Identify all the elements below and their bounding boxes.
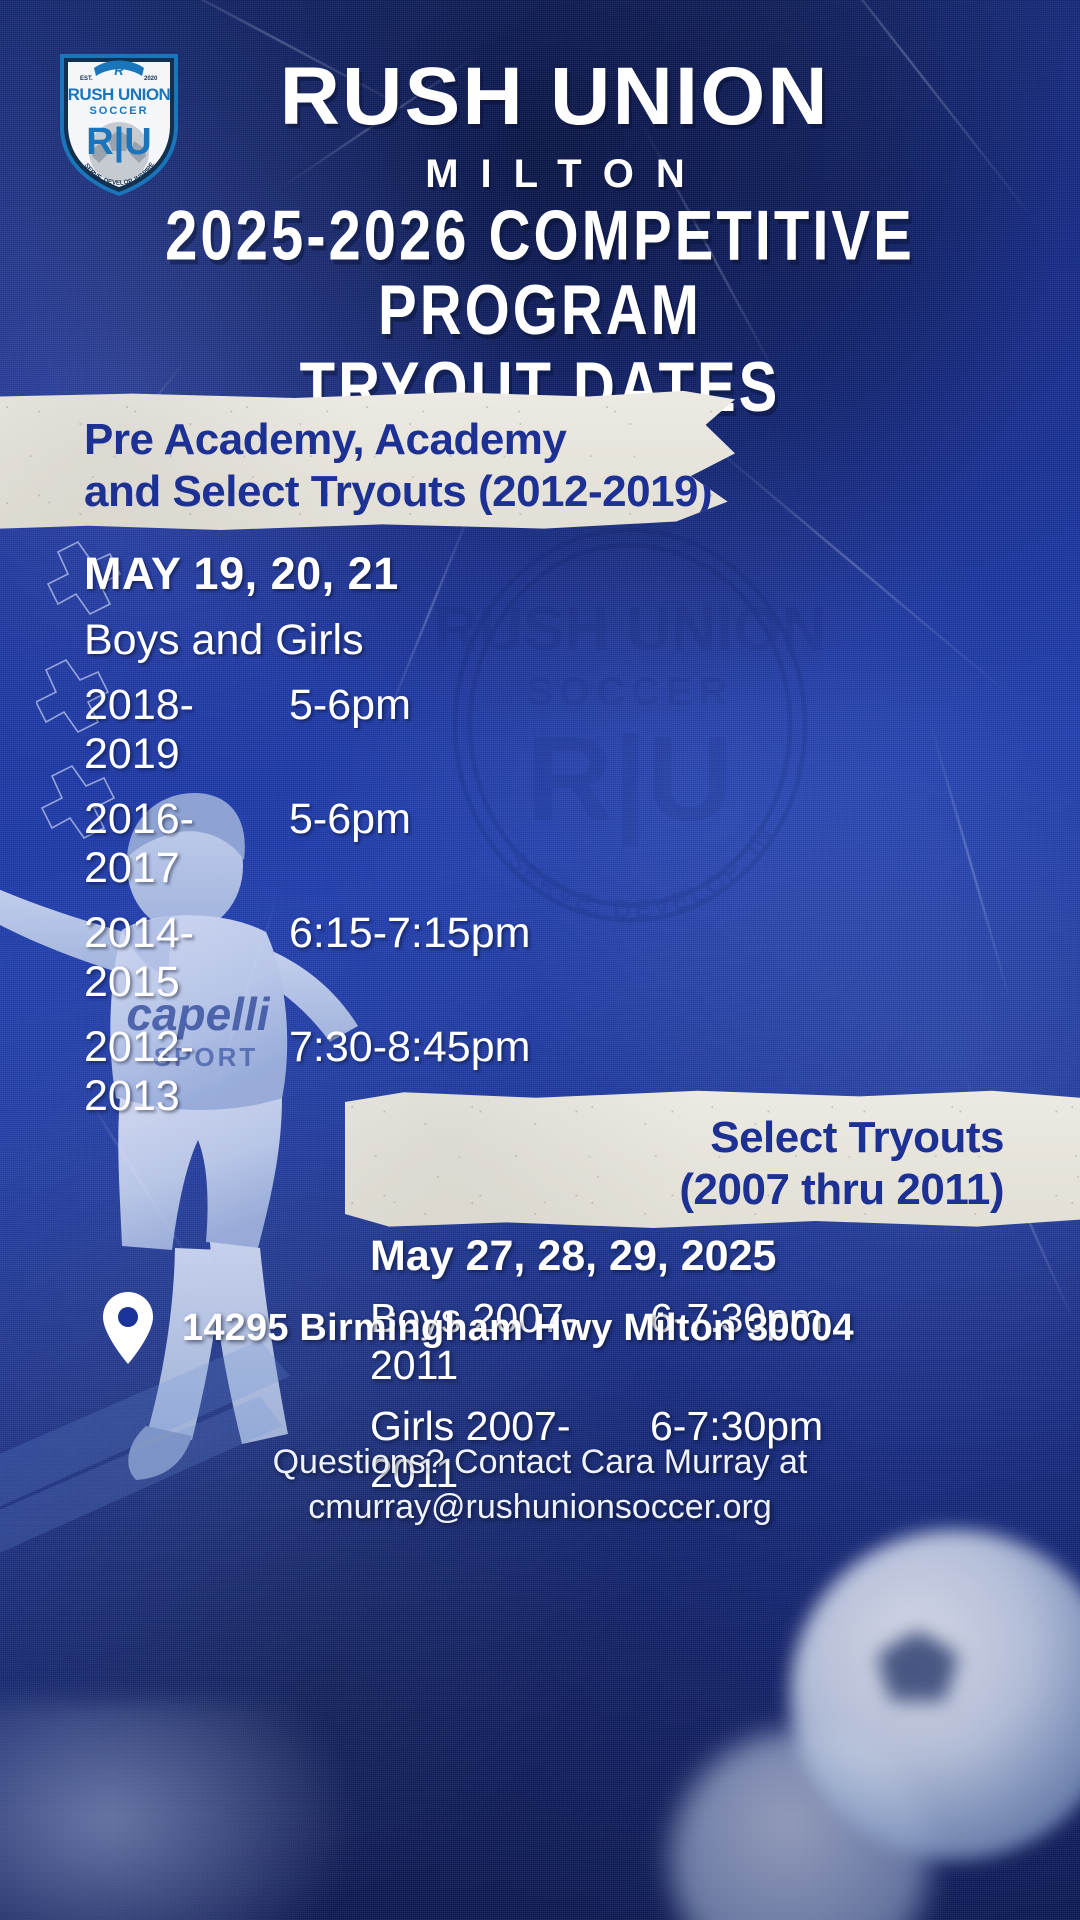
section-one-banner-text: Pre Academy, Academy and Select Tryouts … (0, 388, 735, 518)
section-one-banner-line-2: and Select Tryouts (2012-2019) (84, 466, 735, 518)
row-years: 2012-2013 (84, 1023, 289, 1121)
svg-text:EST.: EST. (80, 76, 93, 82)
section-one-banner: Pre Academy, Academy and Select Tryouts … (0, 388, 735, 530)
bottom-left-glow (0, 1700, 360, 1920)
schedule-row: 2016-2017 5-6pm (84, 795, 530, 893)
location-block: 14295 Birmingham Hwy Milton 30004 (100, 1290, 854, 1366)
row-time: 5-6pm (289, 681, 411, 779)
section-one-banner-line-1: Pre Academy, Academy (84, 414, 735, 466)
section-one-schedule: MAY 19, 20, 21 Boys and Girls 2018-2019 … (84, 548, 530, 1121)
svg-text:SOCCER: SOCCER (89, 105, 148, 117)
footer-line-2[interactable]: cmurray@rushunionsoccer.org (0, 1485, 1080, 1530)
tryout-flyer: RUSH UNION SOCCER R|U SERVE, DEVELOP, IN… (0, 0, 1080, 1920)
row-time: 5-6pm (289, 795, 411, 893)
schedule-row: 2014-2015 6:15-7:15pm (84, 909, 530, 1007)
address-text: 14295 Birmingham Hwy Milton 30004 (182, 1307, 854, 1350)
section-two-date: May 27, 28, 29, 2025 (370, 1232, 1030, 1281)
brand-subtitle: MILTON (403, 152, 707, 197)
section-one-who: Boys and Girls (84, 616, 530, 665)
headline-line-1: 2025-2026 COMPETITIVE PROGRAM (0, 198, 1080, 348)
svg-text:RUSH UNION: RUSH UNION (68, 85, 171, 104)
row-years: 2018-2019 (84, 681, 289, 779)
schedule-row: 2018-2019 5-6pm (84, 681, 530, 779)
svg-text:SOCCER: SOCCER (526, 670, 733, 714)
footer-contact: Questions? Contact Cara Murray at cmurra… (0, 1440, 1080, 1530)
rush-union-crest-logo: R EST. 2020 RUSH UNION SOCCER R|U SERVE,… (58, 48, 180, 196)
section-one-date: MAY 19, 20, 21 (84, 548, 530, 600)
row-years: 2014-2015 (84, 909, 289, 1007)
brand-block: RUSH UNION MILTON (215, 58, 895, 197)
location-pin-icon (100, 1290, 156, 1366)
svg-text:R|U: R|U (527, 712, 734, 847)
footer-line-1: Questions? Contact Cara Murray at (0, 1440, 1080, 1485)
svg-text:2020: 2020 (144, 76, 158, 82)
row-time: 6:15-7:15pm (289, 909, 530, 1007)
brand-title: RUSH UNION (280, 58, 830, 136)
page-title: 2025-2026 COMPETITIVE PROGRAM TRYOUT DAT… (0, 212, 1080, 418)
row-years: 2016-2017 (84, 795, 289, 893)
svg-text:R|U: R|U (86, 121, 152, 163)
svg-text:R: R (114, 63, 124, 78)
